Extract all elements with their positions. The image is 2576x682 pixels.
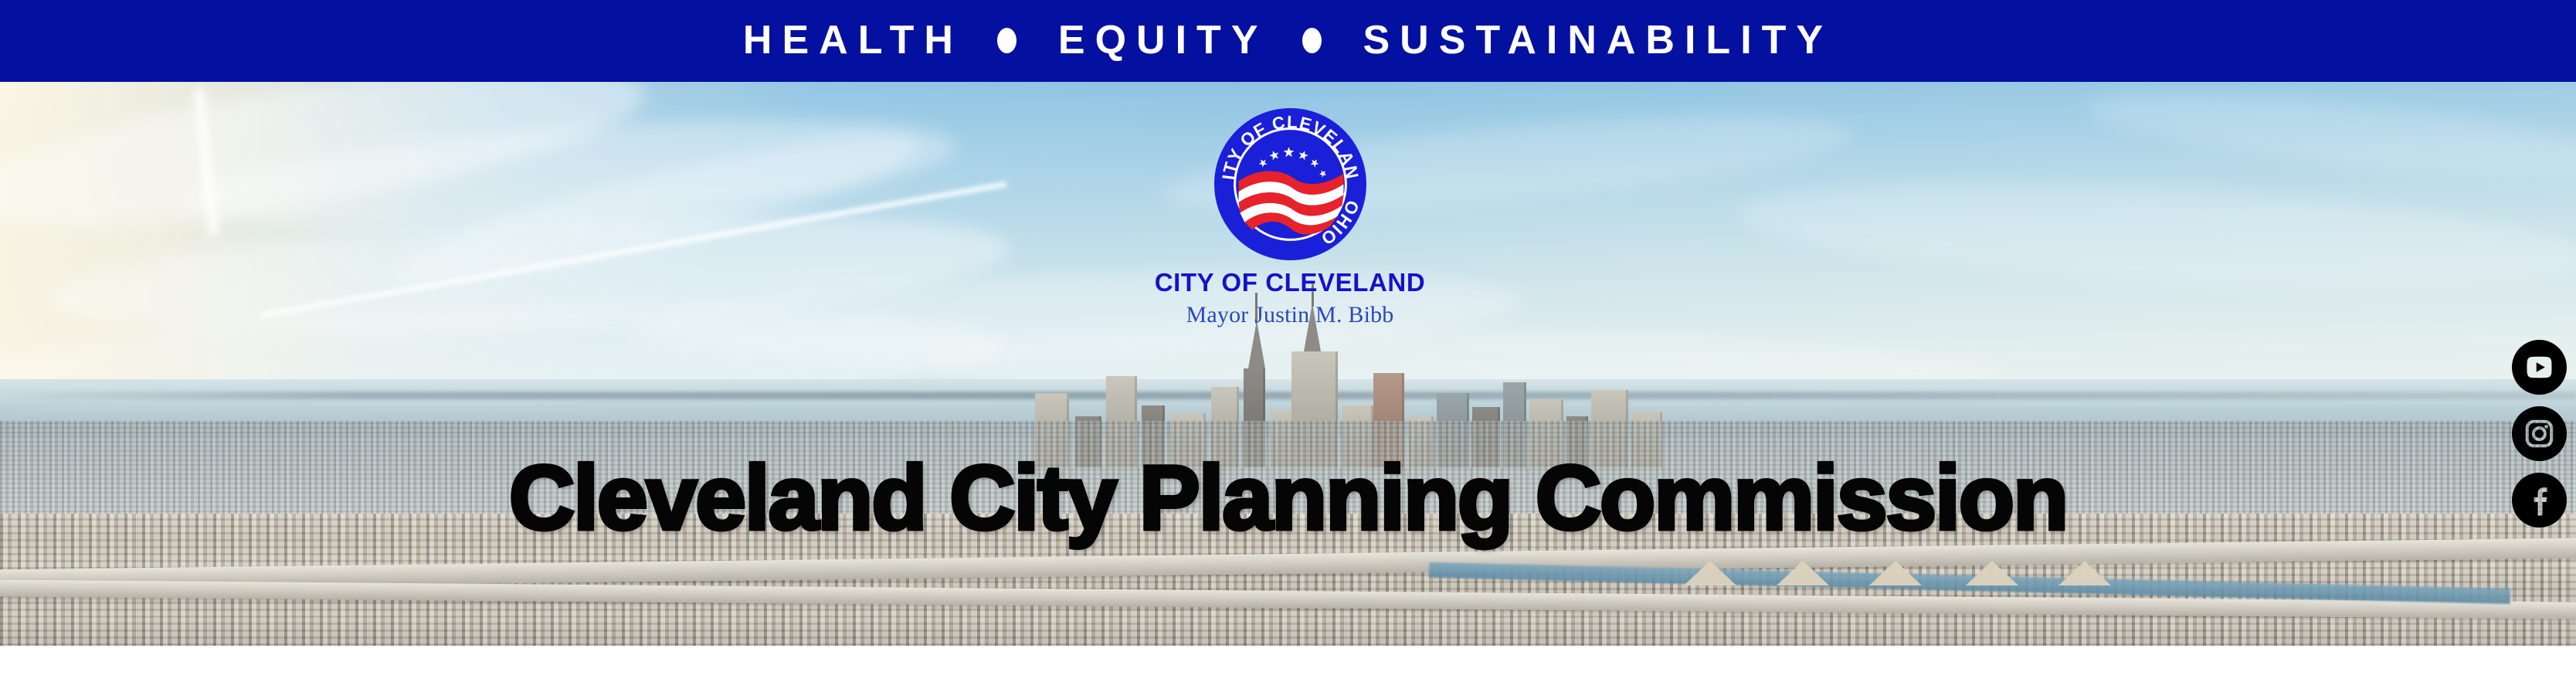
tagline-word-sustainability: SUSTAINABILITY <box>1363 20 1834 60</box>
seal-city-line: CITY OF CLEVELAND <box>1122 270 1458 295</box>
terminal-tower-spire <box>1248 321 1265 368</box>
aggregate-pile <box>1777 561 1829 585</box>
facebook-icon[interactable] <box>2512 473 2567 528</box>
tagline-word-equity: EQUITY <box>1058 20 1268 60</box>
tagline-words: HEALTH EQUITY SUSTAINABILITY <box>743 20 1833 60</box>
social-links-rail <box>2510 340 2568 528</box>
aggregate-pile <box>1684 561 1736 585</box>
bullet-dot-icon <box>997 28 1016 53</box>
page-title: Cleveland City Planning Commission <box>0 453 2576 544</box>
instagram-icon[interactable] <box>2512 406 2567 461</box>
tagline-bar: HEALTH EQUITY SUSTAINABILITY <box>0 0 2576 82</box>
city-seal-block: CITY OF CLEVELAND OHIO <box>1122 108 1458 327</box>
aggregate-pile <box>2058 561 2111 585</box>
tagline-word-health: HEALTH <box>743 20 963 60</box>
below-fold-whitespace <box>0 646 2576 682</box>
youtube-icon[interactable] <box>2512 340 2567 395</box>
seal-mayor-line: Mayor Justin M. Bibb <box>1122 304 1458 327</box>
city-planning-commission-banner: HEALTH EQUITY SUSTAINABILITY <box>0 0 2576 682</box>
city-of-cleveland-seal-icon: CITY OF CLEVELAND OHIO <box>1214 108 1366 260</box>
aggregate-pile <box>1869 561 1922 585</box>
bullet-dot-icon <box>1302 28 1322 53</box>
aggregate-pile <box>1966 561 2018 585</box>
